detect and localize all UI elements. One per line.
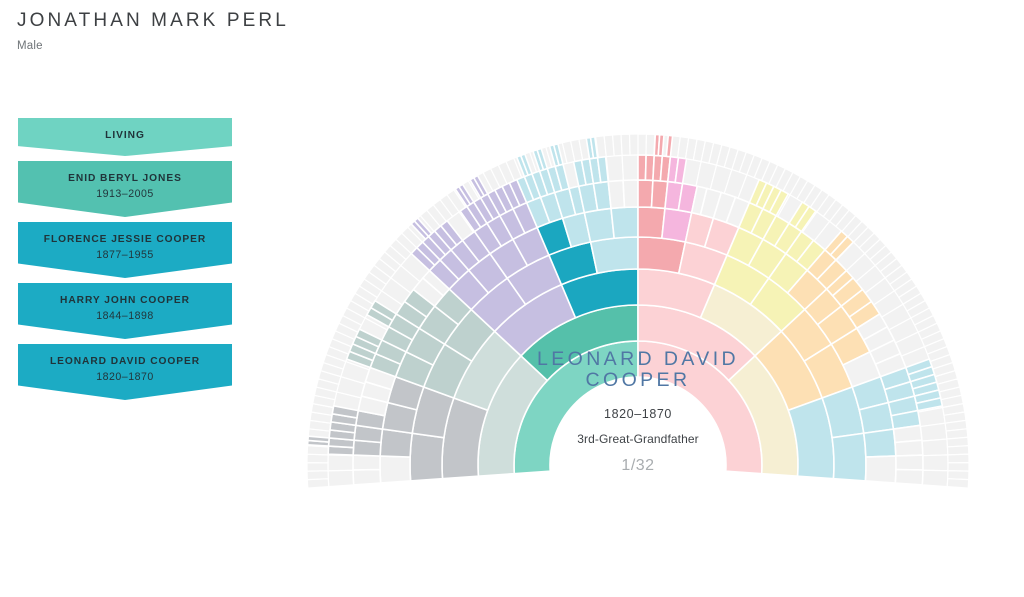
fan-segment[interactable] xyxy=(608,180,624,208)
fan-empty-cell xyxy=(328,455,353,471)
breadcrumb-name: LEONARD DAVID COOPER xyxy=(50,355,200,369)
hub-dates: 1820–1870 xyxy=(604,407,672,421)
breadcrumb-item[interactable]: ENID BERYL JONES1913–2005 xyxy=(18,161,232,217)
fan-segment[interactable] xyxy=(380,456,411,483)
breadcrumb-name: HARRY JOHN COOPER xyxy=(60,294,190,308)
breadcrumb-item[interactable]: LEONARD DAVID COOPER1820–1870 xyxy=(18,344,232,400)
breadcrumb-item[interactable]: FLORENCE JESSIE COOPER1877–1955 xyxy=(18,222,232,278)
hub-name-line1: LEONARD DAVID xyxy=(537,348,739,370)
fan-empty-cell xyxy=(630,134,638,155)
fan-empty-cell xyxy=(922,470,948,486)
fan-segment[interactable] xyxy=(353,470,381,485)
fan-segment[interactable] xyxy=(864,429,896,457)
person-sex-label: Male xyxy=(17,40,43,52)
fan-segment[interactable] xyxy=(584,208,614,242)
fan-segment[interactable] xyxy=(896,455,923,470)
fan-empty-cell xyxy=(638,134,646,155)
hub-relationship: 3rd-Great-Grandfather xyxy=(577,432,699,446)
fan-empty-cell xyxy=(920,423,947,441)
fan-empty-cell xyxy=(923,455,948,471)
fan-segment[interactable] xyxy=(410,433,444,481)
hub-name-line2: COOPER xyxy=(586,369,691,391)
fan-segment[interactable] xyxy=(308,436,329,442)
ancestor-fan-chart[interactable]: LEONARD DAVIDCOOPER1820–18703rd-Great-Gr… xyxy=(300,30,1000,597)
fan-empty-cell xyxy=(307,463,328,471)
fan-empty-cell xyxy=(922,439,948,456)
fan-segment[interactable] xyxy=(638,207,665,238)
hub-fraction: 1/32 xyxy=(621,457,654,474)
fan-segment[interactable] xyxy=(623,180,638,207)
fan-empty-cell xyxy=(947,446,968,455)
breadcrumb-dates: 1844–1898 xyxy=(96,308,154,324)
fan-segment[interactable] xyxy=(832,433,866,481)
fan-segment[interactable] xyxy=(865,456,896,483)
fan-empty-cell xyxy=(947,479,968,488)
breadcrumb-name: LIVING xyxy=(105,129,145,143)
fan-segment[interactable] xyxy=(353,455,380,470)
fan-segment[interactable] xyxy=(611,207,638,238)
fan-empty-cell xyxy=(328,470,354,486)
fan-empty-cell xyxy=(307,479,328,488)
fan-empty-cell xyxy=(622,155,638,180)
fan-segment[interactable] xyxy=(895,440,923,456)
fan-empty-cell xyxy=(621,134,630,155)
page-title: JONATHAN MARK PERL xyxy=(17,10,289,32)
fan-segment[interactable] xyxy=(638,237,685,273)
breadcrumb-dates: 1913–2005 xyxy=(96,186,154,202)
fan-segment[interactable] xyxy=(638,180,653,207)
fan-empty-cell xyxy=(307,471,328,480)
fan-chart-page: JONATHAN MARK PERL Male LIVINGENID BERYL… xyxy=(0,0,1024,597)
breadcrumb-dates: 1877–1955 xyxy=(96,247,154,263)
breadcrumb-name: ENID BERYL JONES xyxy=(68,172,182,186)
breadcrumb-item[interactable]: LIVING xyxy=(18,118,232,156)
breadcrumb: LIVINGENID BERYL JONES1913–2005FLORENCE … xyxy=(18,118,232,405)
fan-segment[interactable] xyxy=(591,237,638,273)
fan-empty-cell xyxy=(948,454,969,463)
breadcrumb-item[interactable]: HARRY JOHN COOPER1844–1898 xyxy=(18,283,232,339)
breadcrumb-name: FLORENCE JESSIE COOPER xyxy=(44,233,206,247)
fan-segment[interactable] xyxy=(895,470,923,485)
breadcrumb-dates: 1820–1870 xyxy=(96,369,154,385)
fan-empty-cell xyxy=(307,454,328,463)
fan-empty-cell xyxy=(948,463,969,471)
fan-segment[interactable] xyxy=(658,135,664,156)
fan-empty-cell xyxy=(606,155,623,181)
